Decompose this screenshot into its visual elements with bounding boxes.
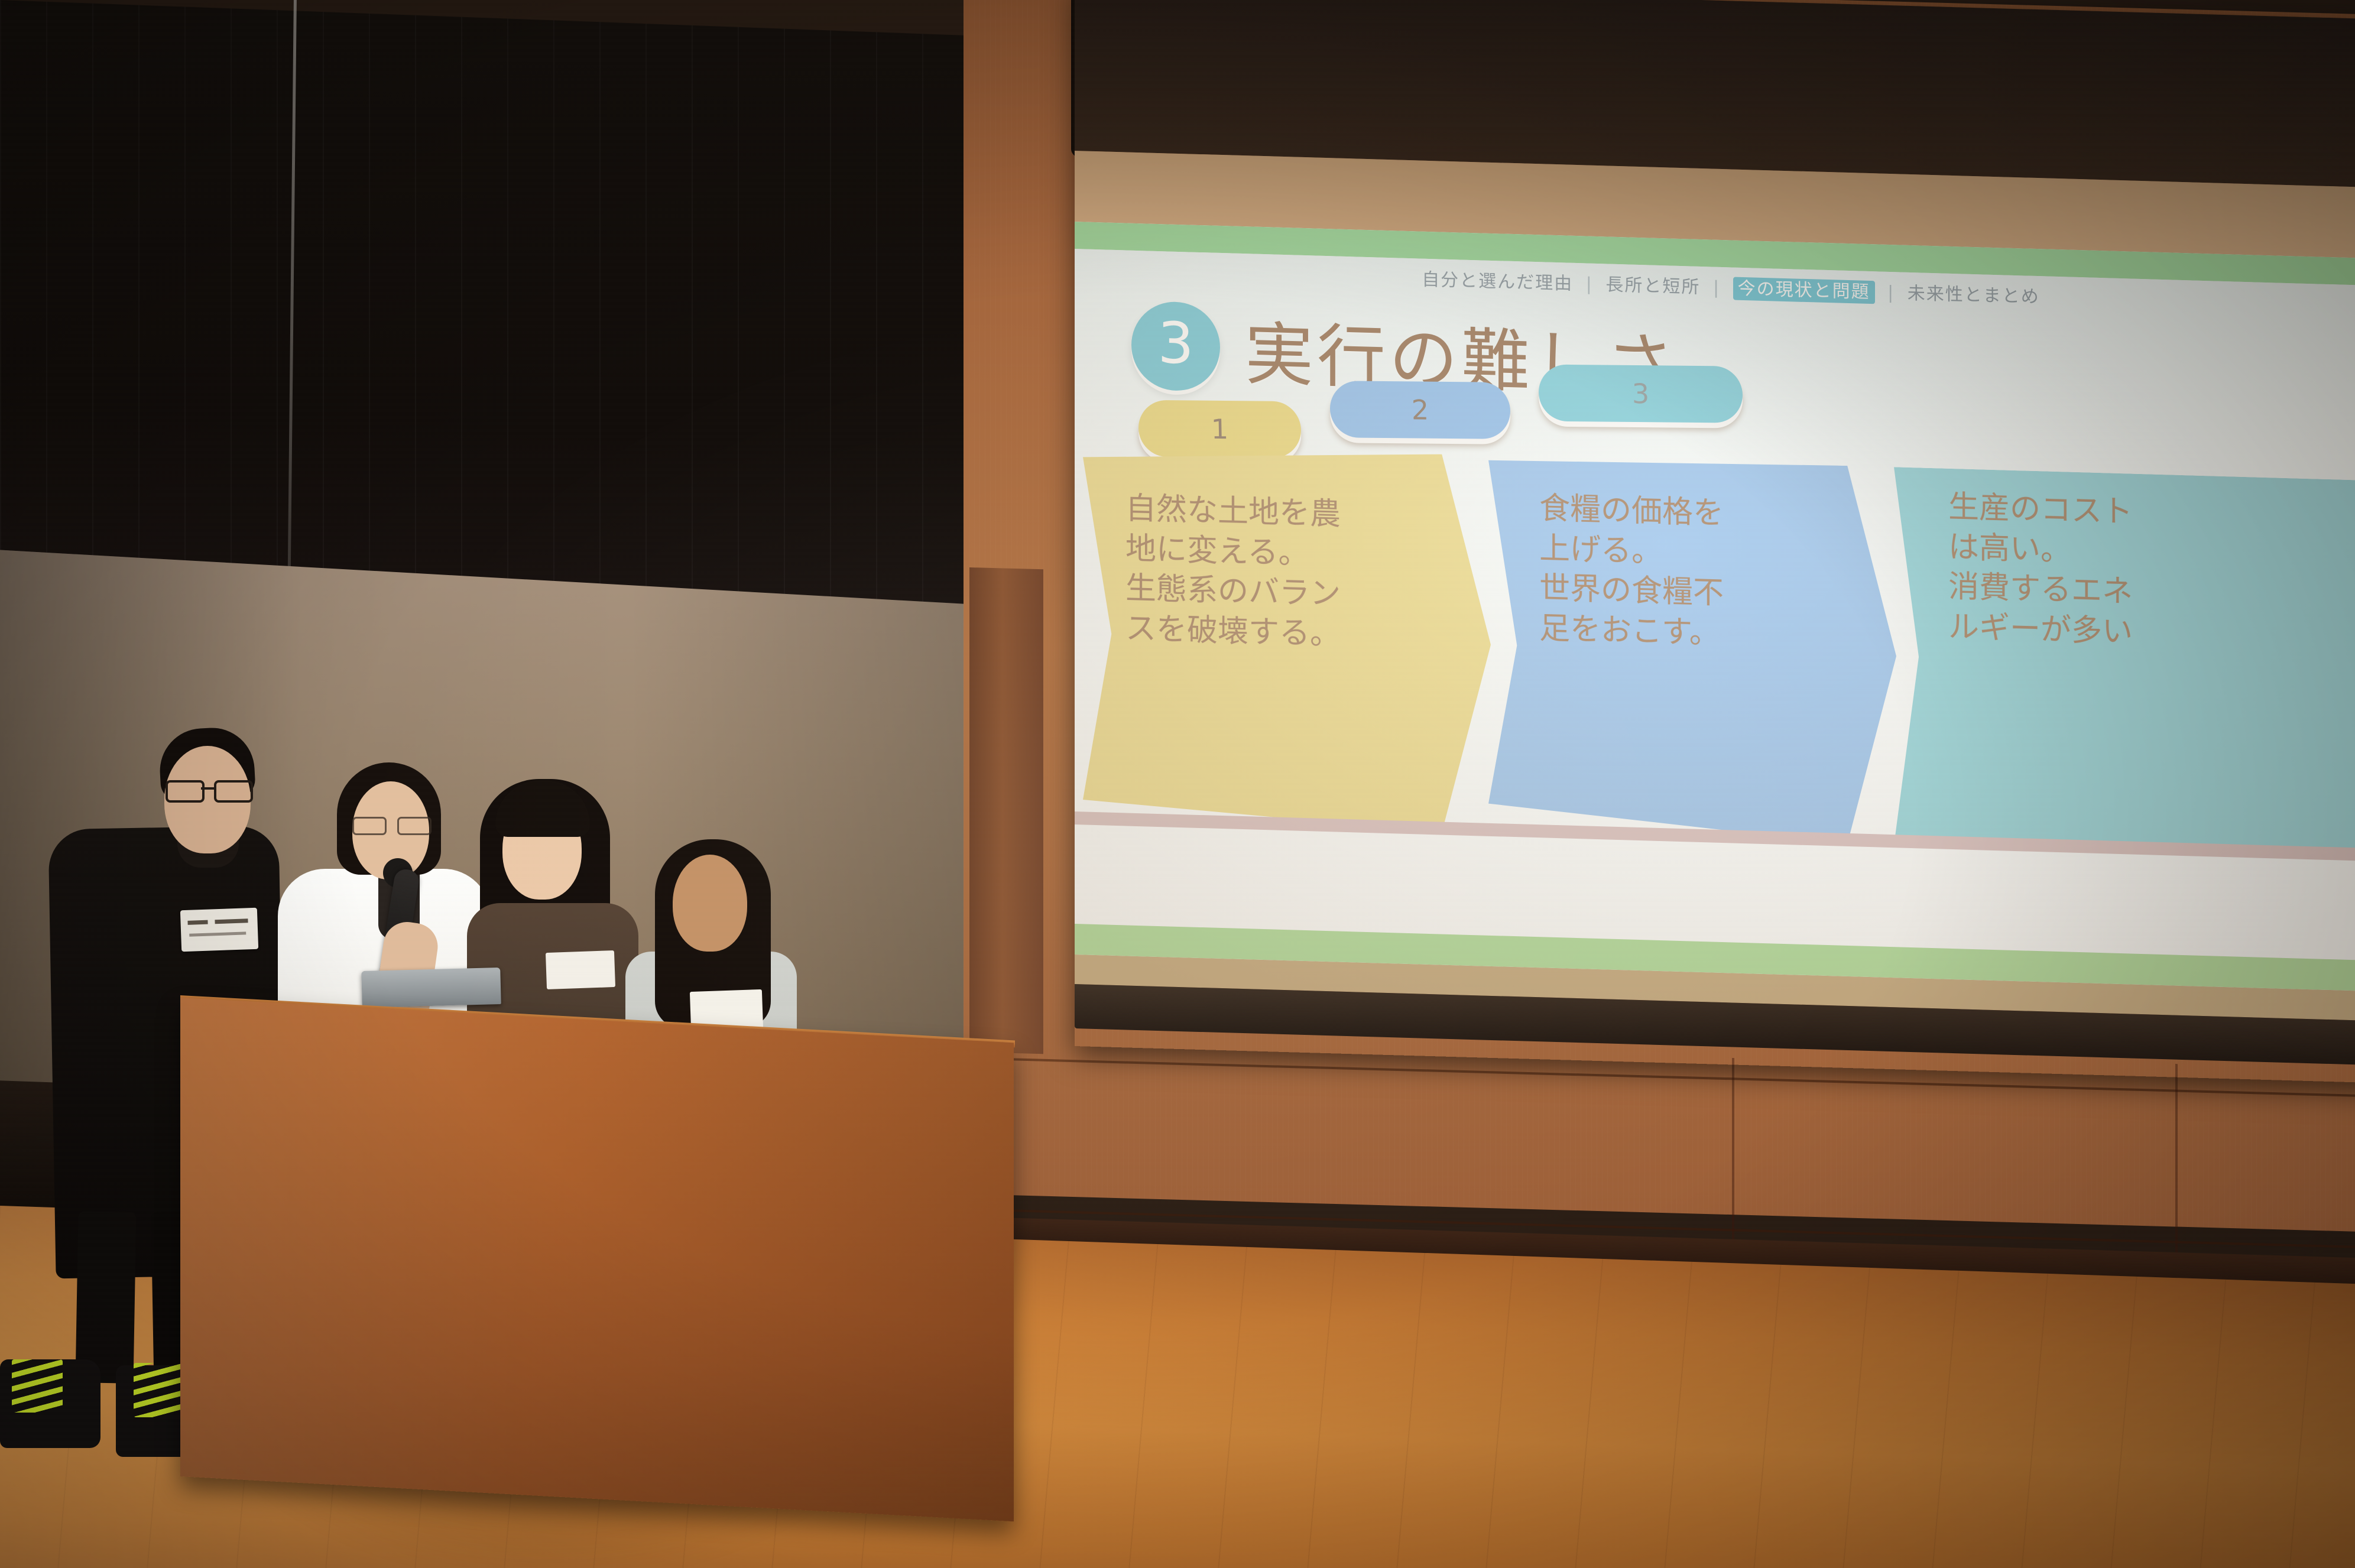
- eyeglasses-lens-right: [214, 780, 253, 803]
- chevron-panel-2: 食糧の価格を 上げる。 世界の食糧不 足をおこす。: [1488, 456, 1896, 846]
- breadcrumb-separator: |: [1586, 274, 1593, 294]
- breadcrumb-item-2[interactable]: 長所と短所: [1605, 274, 1700, 298]
- podium-sheen: [180, 998, 1014, 1521]
- presenter-1-name-badge: [180, 908, 258, 952]
- eyeglasses-bridge: [201, 787, 214, 790]
- step-pill-2: 2: [1329, 381, 1511, 439]
- wood-panel-seam: [1732, 1058, 1734, 1253]
- eyeglasses-lens-left: [166, 780, 205, 803]
- breadcrumb-item-3-active[interactable]: 今の現状と問題: [1733, 277, 1875, 304]
- eyeglasses-icon: [164, 780, 252, 800]
- step-pill-3: 3: [1538, 364, 1743, 423]
- presenter-3-name-badge: [546, 950, 615, 989]
- eyeglasses-lens-left: [352, 817, 387, 835]
- chevron-panel-3: 生産のコスト は高い。 消費するエネ ルギーが多い: [1894, 467, 2355, 859]
- breadcrumb-separator: |: [1713, 278, 1720, 298]
- slide-body: 自分と選んだ理由 | 長所と短所 | 今の現状と問題 | 未来性とまとめ 3 実…: [1075, 249, 2355, 961]
- chevron-panel-2-text: 食糧の価格を 上げる。 世界の食糧不 足をおこす。: [1539, 489, 1724, 654]
- chevron-panel-group: 自然な土地を農 地に変える。 生態系のバラン スを破壊する。 食糧の価格を 上げ…: [1075, 444, 2355, 859]
- breadcrumb-item-1[interactable]: 自分と選んだ理由: [1422, 270, 1573, 294]
- neon-shoelaces-right: [134, 1363, 184, 1417]
- breadcrumb-item-4[interactable]: 未来性とまとめ: [1908, 283, 2040, 307]
- wood-pier: [969, 567, 1043, 1054]
- projected-slide: 自分と選んだ理由 | 長所と短所 | 今の現状と問題 | 未来性とまとめ 3 実…: [1075, 222, 2355, 992]
- chevron-panel-3-text: 生産のコスト は高い。 消費するエネ ルギーが多い: [1948, 488, 2133, 652]
- section-number-badge: 3: [1131, 301, 1220, 392]
- laptop[interactable]: [361, 968, 501, 1008]
- eyeglasses-lens-right: [397, 817, 432, 835]
- eyeglasses-icon: [351, 817, 432, 833]
- breadcrumb-separator: |: [1887, 283, 1895, 303]
- projection-screen: 自分と選んだ理由 | 長所と短所 | 今の現状と問題 | 未来性とまとめ 3 実…: [1075, 0, 2355, 1083]
- chevron-panel-1-text: 自然な土地を農 地に変える。 生態系のバラン スを破壊する。: [1125, 489, 1341, 655]
- chevron-panel-1: 自然な土地を農 地に変える。 生態系のバラン スを破壊する。: [1083, 444, 1491, 834]
- photo-scene: 自分と選んだ理由 | 長所と短所 | 今の現状と問題 | 未来性とまとめ 3 実…: [0, 0, 2355, 1568]
- wood-panel-seam: [2175, 1064, 2178, 1253]
- presenter-1-leg-left: [75, 1211, 136, 1384]
- neon-shoelaces-left: [12, 1359, 63, 1413]
- presenter-4-head: [673, 855, 747, 952]
